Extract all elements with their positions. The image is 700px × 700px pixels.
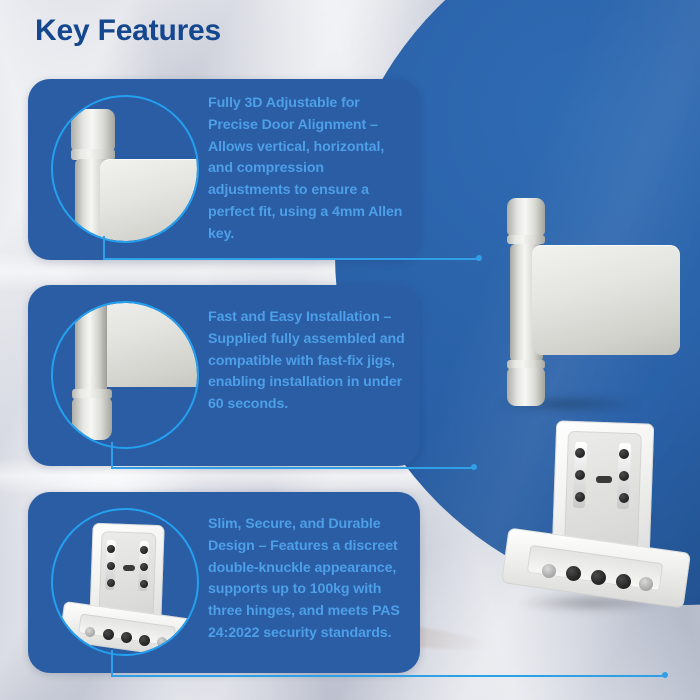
feature-card-text: Fully 3D Adjustable for Precise Door Ali… [208, 93, 406, 246]
hinge-leaf-icon [100, 159, 197, 241]
bracket-screw-icon [103, 629, 114, 640]
bracket-screw [575, 448, 585, 458]
bracket-screw-icon [140, 580, 148, 588]
bracket-screw [619, 471, 629, 481]
bracket-screw-icon [140, 546, 148, 554]
bracket-screw [619, 493, 629, 503]
feature-card: Fully 3D Adjustable for Precise Door Ali… [28, 79, 420, 260]
hinge-top-cap-icon [71, 109, 115, 151]
feature-thumbnail-hinge-leaf-closeup-image [51, 301, 199, 449]
bracket-label-mark [596, 476, 612, 483]
bracket-screw [591, 570, 606, 585]
bracket-screw [575, 470, 585, 480]
bracket-screw-icon [107, 562, 115, 570]
bracket-screw-icon [121, 632, 132, 643]
hinge-top-cap [507, 198, 545, 236]
hinge-bottom-cap [507, 368, 545, 406]
hinge-bottom-cap-icon [72, 398, 112, 440]
bracket-screw-icon [139, 635, 150, 646]
hinge-leaf [532, 245, 680, 355]
hinge-knuckle-top [507, 235, 545, 244]
feature-card-text: Fast and Easy Installation – Supplied fu… [208, 307, 406, 416]
bracket-screw [619, 449, 629, 459]
feature-card: Slim, Secure, and Durable Design – Featu… [28, 492, 420, 673]
feature-thumbnail-hinge-bracket-closeup-image [51, 508, 199, 656]
hinge-bracket-image [496, 418, 696, 618]
bracket-screw-icon [140, 563, 148, 571]
feature-card-text: Slim, Secure, and Durable Design – Featu… [208, 514, 406, 645]
bracket-adjuster-icon [157, 637, 167, 647]
bracket-screw-icon [107, 545, 115, 553]
feature-card: Fast and Easy Installation – Supplied fu… [28, 285, 420, 466]
bracket-screw [566, 566, 581, 581]
bracket-adjuster-icon [85, 627, 95, 637]
bracket-label-mark-icon [123, 565, 135, 571]
feature-graphic-canvas: Key Features [0, 0, 700, 700]
bracket-screw-icon [107, 579, 115, 587]
hinge-barrel-icon [75, 303, 107, 393]
bracket-screw [575, 492, 585, 502]
bracket-screw [616, 574, 631, 589]
main-hinge-image [487, 192, 687, 420]
feature-thumbnail-hinge-knuckle-closeup-image [51, 95, 199, 243]
page-title: Key Features [35, 14, 221, 48]
